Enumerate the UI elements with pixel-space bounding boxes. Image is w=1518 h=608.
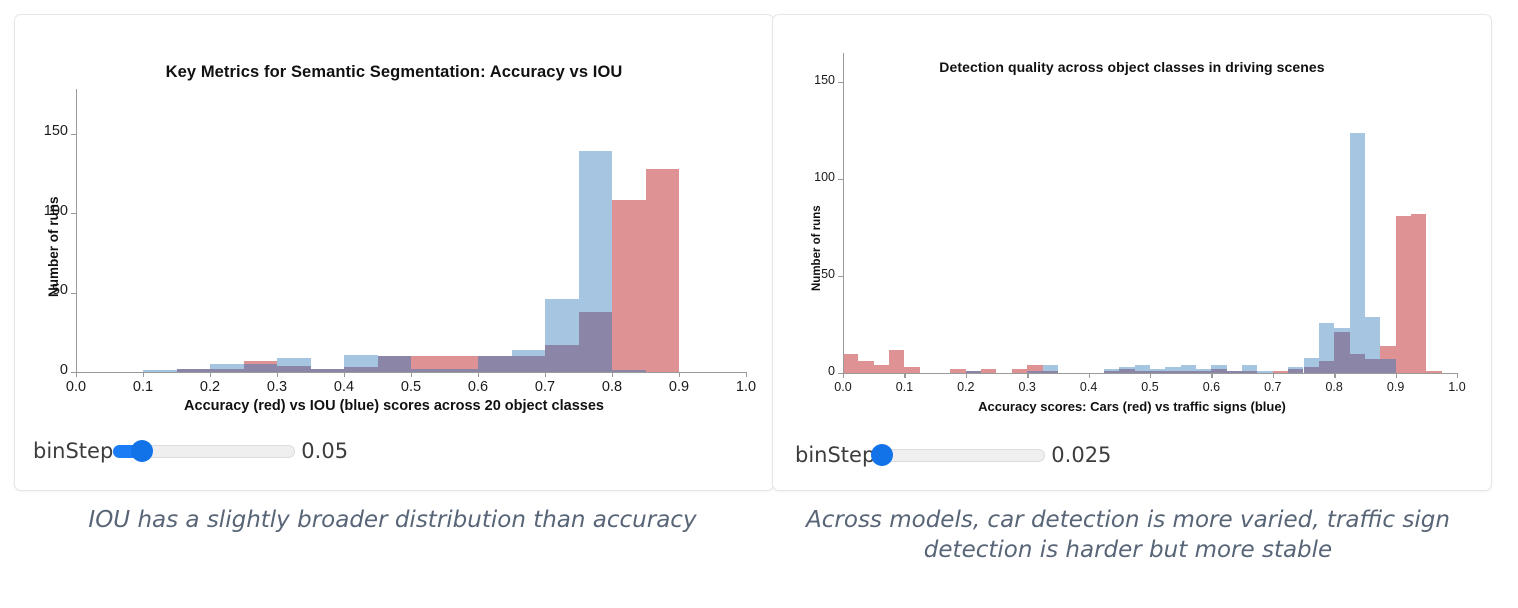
y-axis-tick (71, 372, 76, 373)
histogram-bar (1411, 214, 1426, 373)
slider-track-right[interactable] (875, 449, 1045, 462)
x-axis-tick (210, 372, 211, 377)
x-axis-tick-label: 1.0 (1439, 380, 1475, 394)
x-axis-tick-label: 0.2 (948, 380, 984, 394)
histogram-bar (579, 151, 613, 312)
x-axis-tick-label: 0.3 (1009, 380, 1045, 394)
histogram-bar (646, 169, 680, 373)
x-axis-tick (76, 372, 77, 377)
y-axis-label-left: Number of runs (46, 196, 61, 297)
binstep-slider-row-right[interactable]: binStep 0.025 (795, 443, 1111, 467)
panel-left: Key Metrics for Semantic Segmentation: A… (0, 0, 760, 608)
x-axis-tick (1211, 373, 1212, 378)
histogram-bar (1304, 358, 1319, 368)
x-axis-tick-label: 0.8 (1316, 380, 1352, 394)
panel-right: Detection quality across object classes … (758, 0, 1518, 608)
y-axis-tick-label: 0 (24, 362, 68, 378)
histogram-bar-overlap (545, 345, 579, 372)
x-axis-tick (612, 372, 613, 377)
histogram-bar (612, 200, 646, 370)
x-axis-tick-label: 0.3 (259, 379, 295, 395)
plot-area-left (76, 89, 746, 372)
x-axis-tick (478, 372, 479, 377)
plot-area-right (843, 53, 1457, 373)
x-axis-tick-label: 0.6 (1193, 380, 1229, 394)
binstep-slider-value-left: 0.05 (301, 439, 348, 463)
y-axis-tick (838, 276, 843, 277)
y-axis-tick (838, 373, 843, 374)
histogram-bar (1365, 317, 1380, 360)
histogram-bar (1396, 216, 1411, 373)
histogram-bar-overlap (579, 312, 613, 372)
x-axis-tick-label: 0.9 (1378, 380, 1414, 394)
chart-card-left: Key Metrics for Semantic Segmentation: A… (14, 14, 774, 491)
binstep-slider-right[interactable] (875, 445, 1045, 465)
histogram-bars-right (843, 53, 1457, 373)
y-axis-tick (71, 293, 76, 294)
x-axis-tick (966, 373, 967, 378)
x-axis-tick (545, 372, 546, 377)
binstep-slider-value-right: 0.025 (1051, 443, 1111, 467)
x-axis-tick-label: 0.6 (460, 379, 496, 395)
x-axis-tick (1027, 373, 1028, 378)
x-axis-tick-label: 0.0 (58, 379, 94, 395)
x-axis-tick-label: 0.4 (1071, 380, 1107, 394)
y-axis-tick (71, 134, 76, 135)
x-axis-label-left: Accuracy (red) vs IOU (blue) scores acro… (15, 398, 773, 414)
x-axis-tick-label: 0.1 (125, 379, 161, 395)
x-axis-tick-label: 0.0 (825, 380, 861, 394)
y-axis-tick-label: 150 (24, 123, 68, 139)
x-axis-tick-label: 0.5 (393, 379, 429, 395)
x-axis-tick (1457, 373, 1458, 378)
y-axis-tick-label: 150 (791, 73, 835, 87)
chart-title-left: Key Metrics for Semantic Segmentation: A… (15, 63, 773, 82)
chart-caption-left: IOU has a slightly broader distribution … (20, 505, 765, 535)
histogram-bar (277, 358, 311, 366)
histogram-bar (445, 356, 479, 369)
x-axis-tick (746, 372, 747, 377)
histogram-bar (411, 356, 445, 369)
histogram-bar (1319, 323, 1334, 362)
y-axis-line-right (843, 53, 844, 373)
chart-caption-right: Across models, car detection is more var… (768, 505, 1488, 566)
x-axis-tick (904, 373, 905, 378)
histogram-bar (545, 299, 579, 345)
histogram-bar (1380, 346, 1395, 360)
slider-thumb-right[interactable] (871, 444, 893, 466)
x-axis-tick-label: 0.5 (1132, 380, 1168, 394)
y-axis-line-left (76, 89, 77, 372)
histogram-bar (889, 350, 904, 373)
histogram-bar (858, 361, 873, 373)
x-axis-tick (277, 372, 278, 377)
x-axis-tick (1150, 373, 1151, 378)
x-axis-tick (344, 372, 345, 377)
histogram-bar-overlap (1365, 359, 1380, 373)
histogram-bar-overlap (1334, 332, 1349, 373)
y-axis-tick-label: 100 (791, 170, 835, 184)
y-axis-tick (71, 213, 76, 214)
x-axis-label-right: Accuracy scores: Cars (red) vs traffic s… (773, 399, 1491, 414)
histogram-bar-overlap (1380, 359, 1395, 373)
binstep-slider-left[interactable] (113, 441, 295, 461)
chart-card-right: Detection quality across object classes … (772, 14, 1492, 491)
y-axis-tick (838, 82, 843, 83)
histogram-bars-left (76, 89, 746, 372)
histogram-bar (843, 354, 858, 373)
x-axis-tick (1334, 373, 1335, 378)
x-axis-tick (411, 372, 412, 377)
x-axis-tick (1396, 373, 1397, 378)
x-axis-tick (679, 372, 680, 377)
histogram-bar (344, 355, 378, 368)
histogram-bar-overlap (1319, 361, 1334, 373)
page-root: Key Metrics for Semantic Segmentation: A… (0, 0, 1518, 608)
x-axis-tick-label: 0.7 (527, 379, 563, 395)
histogram-bar-overlap (512, 356, 546, 372)
x-axis-tick-label: 0.1 (886, 380, 922, 394)
histogram-bar (874, 365, 889, 373)
binstep-slider-label-left: binStep (33, 439, 113, 463)
x-axis-tick-label: 0.4 (326, 379, 362, 395)
binstep-slider-row-left[interactable]: binStep 0.05 (33, 439, 348, 463)
histogram-bar-overlap (1350, 354, 1365, 373)
x-axis-tick (1089, 373, 1090, 378)
x-axis-tick-label: 0.7 (1255, 380, 1291, 394)
binstep-slider-label-right: binStep (795, 443, 875, 467)
x-axis-tick-label: 0.9 (661, 379, 697, 395)
x-axis-tick-label: 0.2 (192, 379, 228, 395)
y-axis-tick (838, 179, 843, 180)
y-axis-tick-label: 0 (791, 364, 835, 378)
histogram-bar-overlap (244, 364, 278, 372)
histogram-bar (1350, 133, 1365, 354)
y-axis-label-right: Number of runs (811, 205, 823, 291)
histogram-bar-overlap (378, 356, 412, 372)
x-axis-tick-label: 0.8 (594, 379, 630, 395)
x-axis-tick (843, 373, 844, 378)
slider-thumb-left[interactable] (131, 440, 153, 462)
histogram-bar-overlap (478, 356, 512, 372)
x-axis-tick (1273, 373, 1274, 378)
x-axis-tick (143, 372, 144, 377)
